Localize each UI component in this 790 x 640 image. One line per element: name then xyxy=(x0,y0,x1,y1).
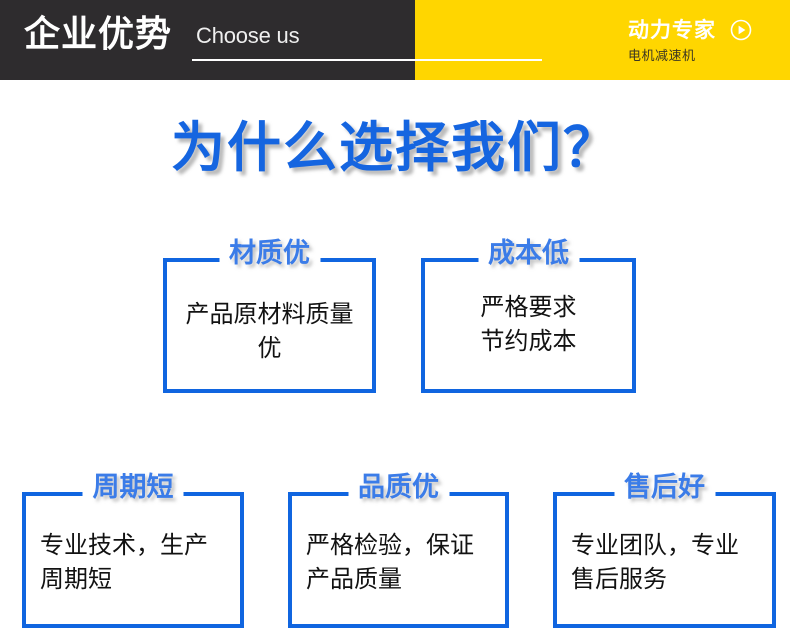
brand-block: 动力专家 电机减速机 xyxy=(628,17,778,66)
feature-box-quality: 品质优 严格检验，保证产品质量 xyxy=(288,492,509,628)
feature-body-cost: 严格要求 节约成本 xyxy=(425,290,632,358)
brand-name: 动力专家 xyxy=(628,17,716,43)
feature-title-service: 售后好 xyxy=(614,471,715,505)
feature-title-cost: 成本低 xyxy=(478,237,579,271)
feature-title-material: 材质优 xyxy=(219,237,320,271)
feature-box-service: 售后好 专业团队，专业售后服务 xyxy=(553,492,776,628)
feature-body-quality: 严格检验，保证产品质量 xyxy=(292,528,505,596)
feature-box-cost: 成本低 严格要求 节约成本 xyxy=(421,258,636,393)
page-headline: 为什么选择我们？ xyxy=(0,103,790,182)
feature-box-material: 材质优 产品原材料质量优 xyxy=(163,258,376,393)
header-title-english: Choose us xyxy=(196,23,299,49)
feature-title-cycle: 周期短 xyxy=(83,471,184,505)
feature-title-quality: 品质优 xyxy=(348,471,449,505)
play-circle-icon[interactable] xyxy=(730,19,752,41)
feature-body-material: 产品原材料质量优 xyxy=(167,297,372,365)
brand-tagline: 电机减速机 xyxy=(628,48,778,66)
page-header: 企业优势 Choose us 动力专家 电机减速机 xyxy=(0,0,790,80)
feature-body-cycle: 专业技术，生产周期短 xyxy=(26,528,240,596)
feature-body-cost-line2: 节约成本 xyxy=(433,324,624,358)
feature-body-cost-line1: 严格要求 xyxy=(433,290,624,324)
feature-box-cycle: 周期短 专业技术，生产周期短 xyxy=(22,492,244,628)
feature-body-service: 专业团队，专业售后服务 xyxy=(557,528,772,596)
header-divider-line xyxy=(192,59,542,61)
header-title-chinese: 企业优势 xyxy=(24,12,172,58)
